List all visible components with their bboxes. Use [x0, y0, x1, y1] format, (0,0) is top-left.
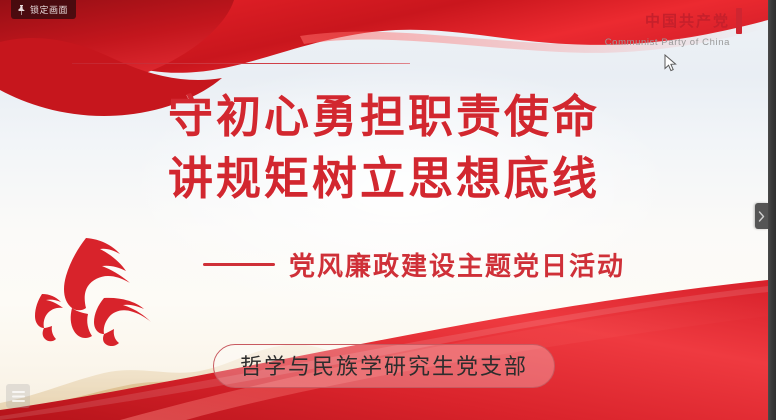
- brand-chinese-name: 中国共产党: [645, 14, 730, 29]
- cpc-brand: 中国共产党 Communist Party of China: [605, 8, 742, 48]
- headline-line-2: 讲规矩树立思想底线: [0, 148, 768, 210]
- organization-badge: 哲学与民族学研究生党支部: [0, 344, 768, 388]
- subtitle-dash: [203, 263, 275, 266]
- organization-name: 哲学与民族学研究生党支部: [240, 355, 528, 380]
- presentation-window: 中国共产党 Communist Party of China 守初心勇担职责使命…: [0, 0, 776, 420]
- headline-line-1: 守初心勇担职责使命: [0, 86, 768, 148]
- header-rule: [72, 63, 410, 64]
- list-menu-icon[interactable]: [6, 384, 30, 408]
- brand-english-name: Communist Party of China: [605, 38, 730, 48]
- slide-canvas[interactable]: 中国共产党 Communist Party of China 守初心勇担职责使命…: [0, 0, 768, 420]
- brand-accent-bar: [736, 8, 742, 34]
- chevron-right-icon[interactable]: [755, 203, 768, 229]
- lock-screen-button[interactable]: 锁定画面: [11, 0, 76, 19]
- lock-screen-label: 锁定画面: [30, 3, 68, 16]
- pin-icon: [17, 5, 26, 15]
- slide-headline: 守初心勇担职责使命 讲规矩树立思想底线: [0, 86, 768, 210]
- window-right-edge: [768, 0, 776, 420]
